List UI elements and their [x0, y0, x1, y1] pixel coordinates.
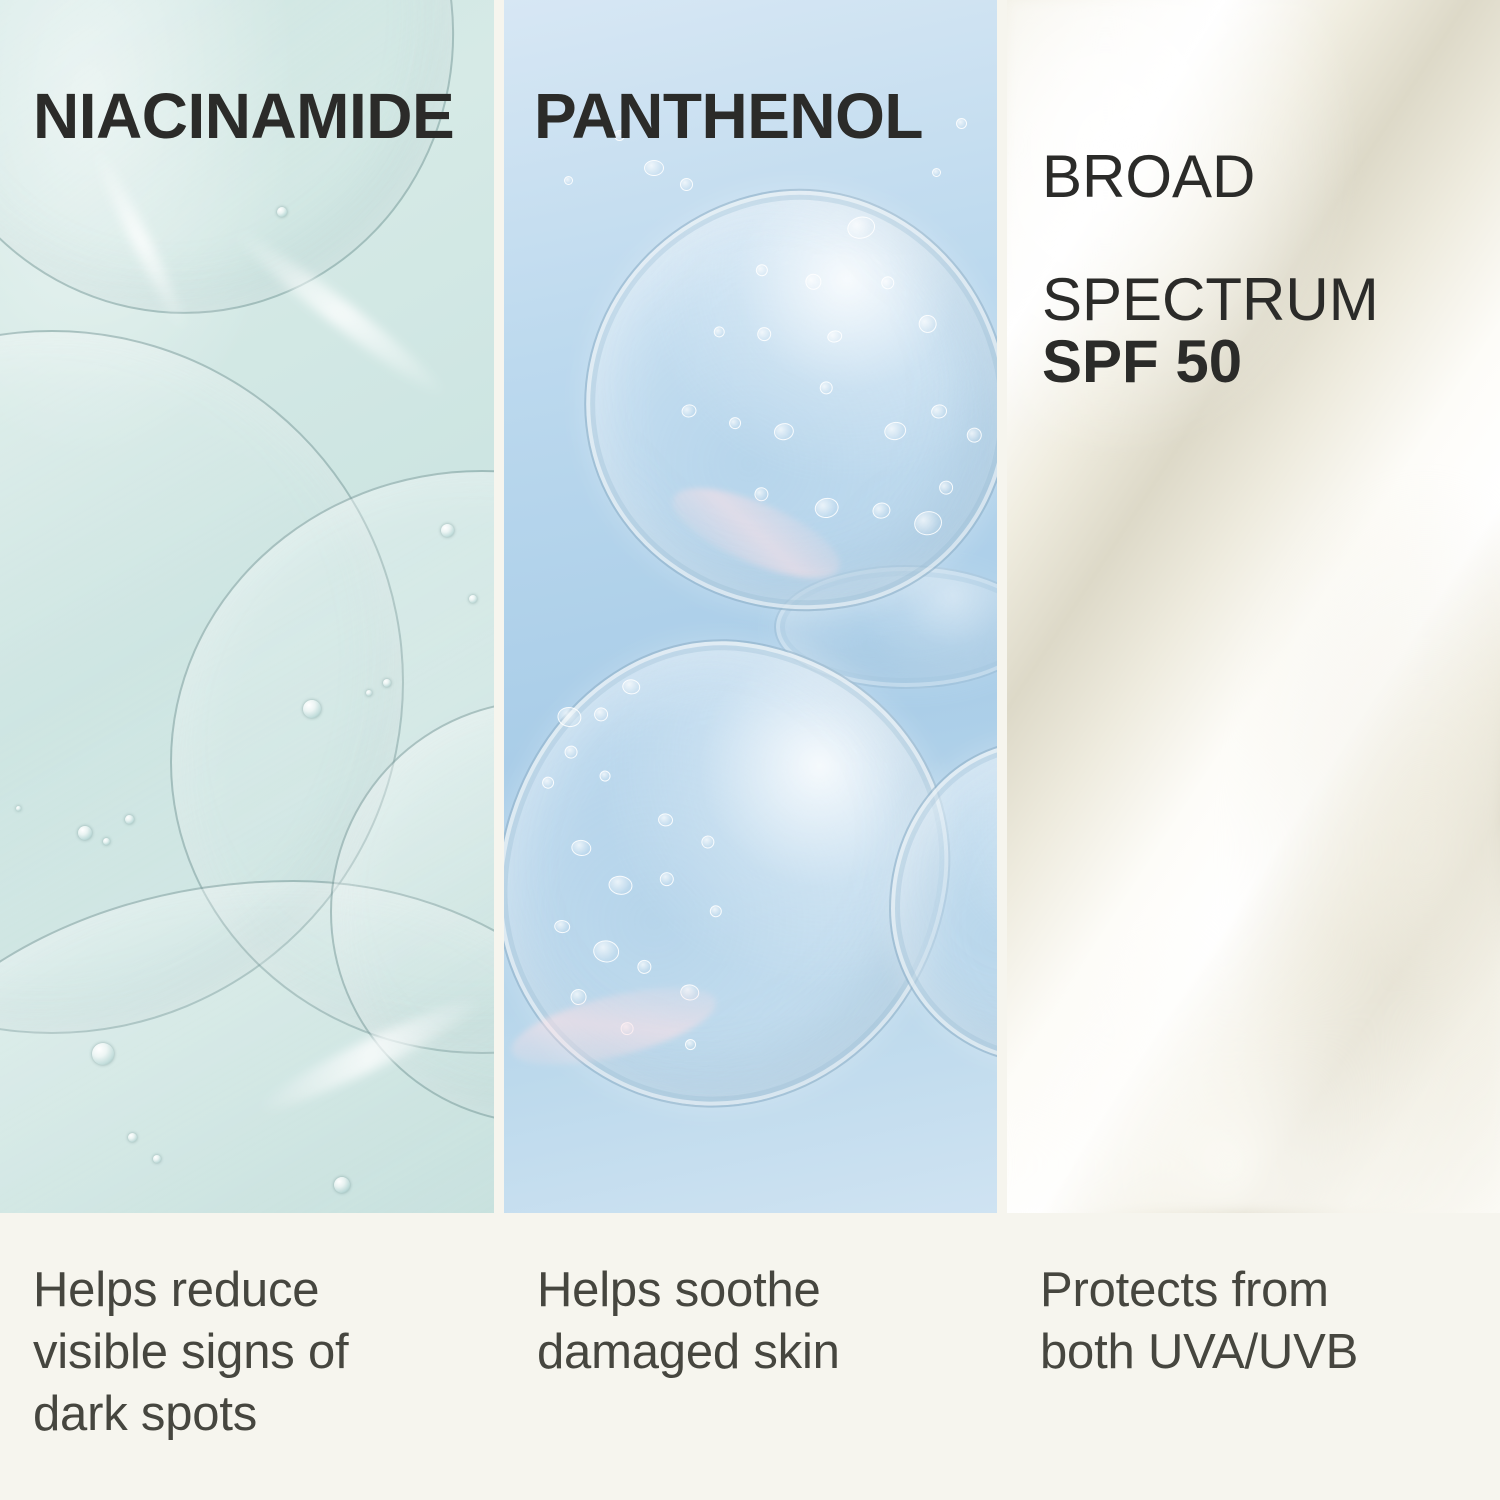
micro-bubble — [826, 329, 843, 344]
micro-bubble — [553, 919, 571, 934]
air-bubble — [366, 690, 372, 696]
micro-bubble — [709, 905, 723, 919]
product-benefits-infographic: NIACINAMIDE — [0, 0, 1500, 1500]
air-bubble — [383, 679, 391, 687]
micro-bubble — [965, 426, 983, 444]
micro-bubble — [813, 496, 841, 521]
micro-bubble — [755, 263, 769, 277]
micro-bubble — [772, 421, 795, 442]
micro-bubble — [680, 178, 693, 191]
micro-bubble — [883, 420, 908, 442]
heading-line-spf: SPF 50 — [1042, 331, 1379, 393]
caption-panthenol: Helps soothe damaged skin — [537, 1259, 977, 1383]
air-bubble — [78, 826, 92, 840]
air-bubble — [16, 806, 21, 811]
micro-bubble — [912, 509, 944, 538]
micro-bubble — [593, 706, 609, 722]
micro-bubble — [564, 745, 579, 760]
micro-bubble — [956, 118, 967, 129]
micro-bubble — [917, 313, 938, 334]
micro-bubble — [871, 501, 892, 520]
air-bubble — [303, 700, 321, 718]
micro-bubble — [701, 835, 716, 850]
micro-bubble — [570, 839, 592, 858]
air-bubble — [103, 838, 110, 845]
micro-bubble — [636, 959, 652, 975]
panel-heading-broad-spectrum: BROAD SPECTRUM SPF 50 — [1042, 84, 1379, 455]
micro-bubble — [657, 812, 674, 827]
micro-bubble — [564, 176, 573, 185]
micro-bubble — [930, 403, 949, 420]
heading-line-broad: BROAD — [1042, 143, 1255, 210]
caption-strip: Helps reduce visible signs of dark spots… — [0, 1213, 1500, 1500]
bubble-rim-glow — [505, 972, 723, 1081]
air-bubble — [153, 1155, 161, 1163]
micro-bubble — [680, 403, 697, 419]
micro-bubble — [932, 168, 941, 177]
panel-niacinamide: NIACINAMIDE — [0, 0, 494, 1213]
micro-bubble — [728, 416, 742, 430]
air-bubble — [334, 1177, 350, 1193]
heading-line-spectrum: SPECTRUM — [1042, 266, 1379, 333]
air-bubble — [469, 595, 477, 603]
panel-row: NIACINAMIDE — [0, 0, 1500, 1213]
micro-bubble — [599, 770, 611, 782]
micro-bubble — [756, 326, 773, 343]
air-bubble — [441, 524, 454, 537]
panel-panthenol: PANTHENOL — [504, 0, 997, 1213]
panel-broad-spectrum: BROAD SPECTRUM SPF 50 — [1007, 0, 1500, 1213]
micro-bubble — [541, 776, 555, 790]
micro-bubble — [938, 479, 955, 496]
micro-bubble — [644, 160, 664, 176]
air-bubble — [125, 815, 134, 824]
micro-bubble — [845, 214, 877, 241]
micro-bubble — [819, 380, 834, 395]
air-bubble — [92, 1043, 114, 1065]
caption-niacinamide: Helps reduce visible signs of dark spots — [33, 1259, 473, 1445]
micro-bubble — [713, 325, 726, 338]
micro-bubble — [804, 272, 823, 291]
micro-bubble — [607, 874, 633, 896]
air-bubble — [128, 1133, 137, 1142]
micro-bubble — [880, 275, 895, 290]
micro-bubble — [659, 871, 675, 887]
micro-bubble — [684, 1038, 696, 1050]
panel-heading-niacinamide: NIACINAMIDE — [33, 84, 454, 150]
air-bubble — [277, 207, 287, 217]
micro-bubble — [556, 705, 583, 728]
caption-broad-spectrum: Protects from both UVA/UVB — [1040, 1259, 1490, 1383]
panel-heading-panthenol: PANTHENOL — [534, 84, 923, 150]
micro-bubble — [592, 939, 621, 964]
micro-bubble — [621, 678, 641, 695]
